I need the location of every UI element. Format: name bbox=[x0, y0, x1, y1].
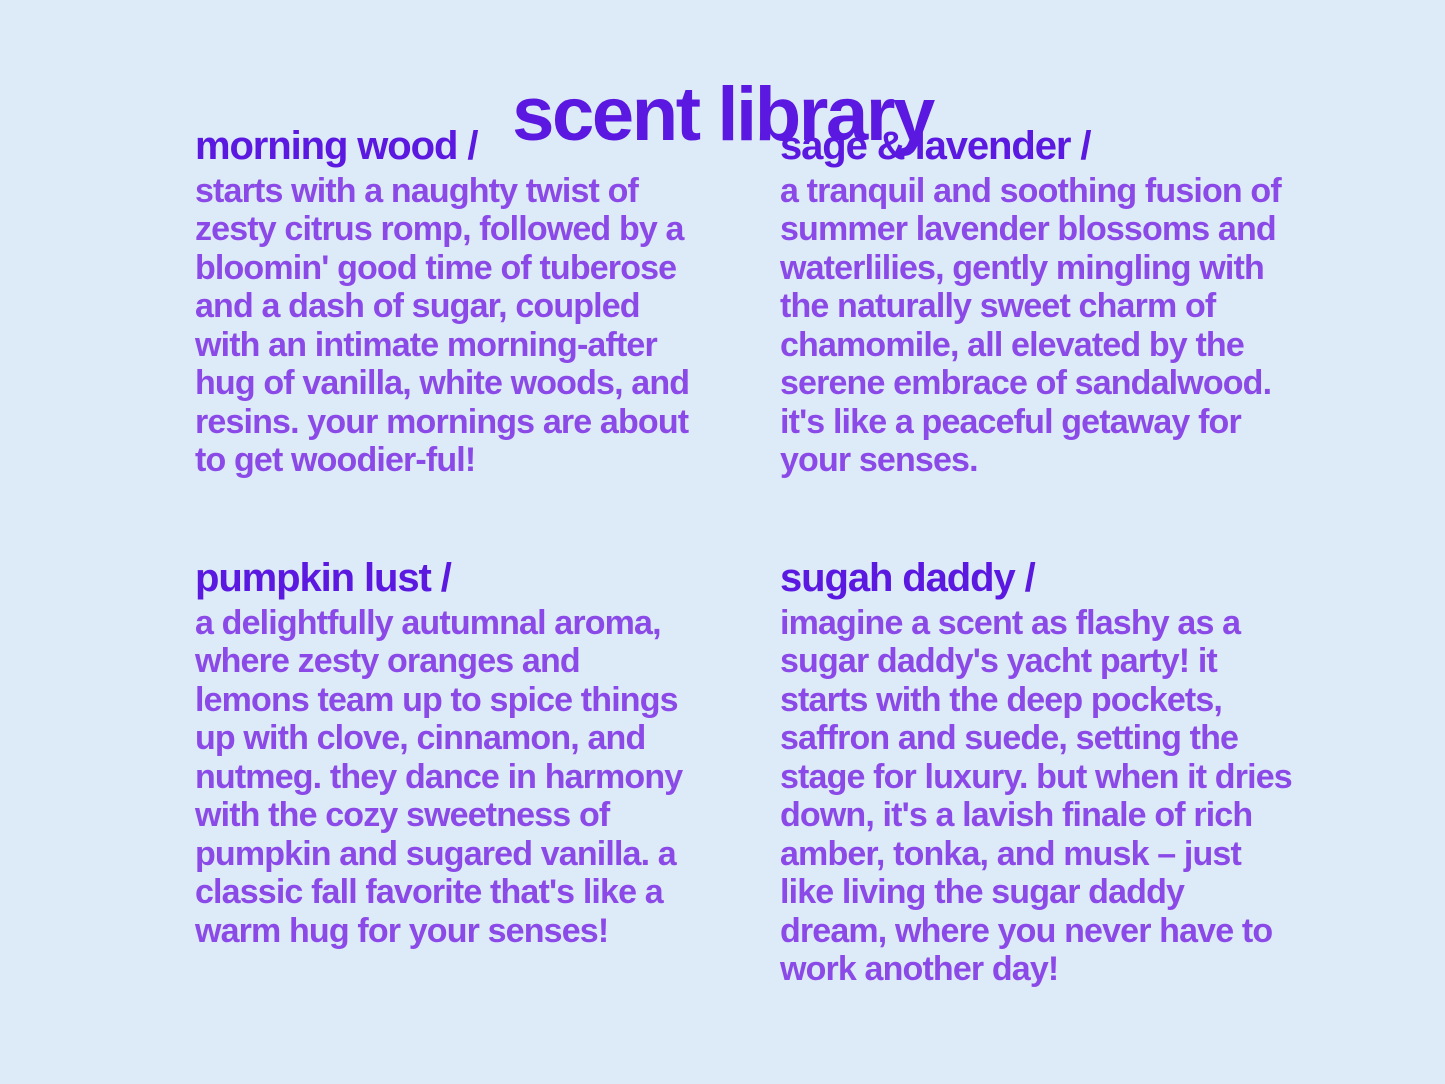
text-line: waterlilies, gently mingling with bbox=[780, 249, 1325, 288]
text-line: down, it's a lavish finale of rich bbox=[780, 796, 1325, 835]
scent-name-sugah-daddy: sugah daddy / bbox=[780, 556, 1325, 601]
text-line: bloomin' good time of tuberose bbox=[195, 249, 780, 288]
text-line: sugar daddy's yacht party! it bbox=[780, 642, 1325, 681]
text-line: and a dash of sugar, coupled bbox=[195, 287, 780, 326]
text-line: imagine a scent as flashy as a bbox=[780, 604, 1325, 643]
text-line: resins. your mornings are about bbox=[195, 403, 780, 442]
text-line: hug of vanilla, white woods, and bbox=[195, 364, 780, 403]
text-line: serene embrace of sandalwood. bbox=[780, 364, 1325, 403]
text-line: a delightfully autumnal aroma, bbox=[195, 604, 780, 643]
text-line: nutmeg. they dance in harmony bbox=[195, 758, 780, 797]
text-line: with an intimate morning-after bbox=[195, 326, 780, 365]
scent-description-morning-wood: starts with a naughty twist ofzesty citr… bbox=[195, 172, 780, 480]
text-line: where zesty oranges and bbox=[195, 642, 780, 681]
scent-grid: morning wood / starts with a naughty twi… bbox=[195, 124, 1325, 989]
scent-entry-sage-lavender: sage & lavender / a tranquil and soothin… bbox=[780, 124, 1325, 480]
text-line: warm hug for your senses! bbox=[195, 912, 780, 951]
text-line: starts with the deep pockets, bbox=[780, 681, 1325, 720]
text-line: the naturally sweet charm of bbox=[780, 287, 1325, 326]
text-line: with the cozy sweetness of bbox=[195, 796, 780, 835]
text-line: starts with a naughty twist of bbox=[195, 172, 780, 211]
text-line: like living the sugar daddy bbox=[780, 873, 1325, 912]
scent-name-pumpkin-lust: pumpkin lust / bbox=[195, 556, 780, 601]
scent-description-pumpkin-lust: a delightfully autumnal aroma,where zest… bbox=[195, 604, 780, 951]
text-line: zesty citrus romp, followed by a bbox=[195, 210, 780, 249]
text-line: a tranquil and soothing fusion of bbox=[780, 172, 1325, 211]
scent-entry-sugah-daddy: sugah daddy / imagine a scent as flashy … bbox=[780, 556, 1325, 989]
scent-entry-morning-wood: morning wood / starts with a naughty twi… bbox=[195, 124, 780, 480]
text-line: it's like a peaceful getaway for bbox=[780, 403, 1325, 442]
scent-library-page: scent library morning wood / starts with… bbox=[0, 0, 1445, 1084]
scent-name-sage-lavender: sage & lavender / bbox=[780, 124, 1325, 169]
text-line: summer lavender blossoms and bbox=[780, 210, 1325, 249]
scent-entry-pumpkin-lust: pumpkin lust / a delightfully autumnal a… bbox=[195, 556, 780, 989]
text-line: saffron and suede, setting the bbox=[780, 719, 1325, 758]
text-line: up with clove, cinnamon, and bbox=[195, 719, 780, 758]
scent-name-morning-wood: morning wood / bbox=[195, 124, 780, 169]
text-line: stage for luxury. but when it dries bbox=[780, 758, 1325, 797]
text-line: classic fall favorite that's like a bbox=[195, 873, 780, 912]
text-line: lemons team up to spice things bbox=[195, 681, 780, 720]
text-line: work another day! bbox=[780, 950, 1325, 989]
scent-description-sage-lavender: a tranquil and soothing fusion ofsummer … bbox=[780, 172, 1325, 480]
scent-description-sugah-daddy: imagine a scent as flashy as asugar dadd… bbox=[780, 604, 1325, 989]
text-line: to get woodier-ful! bbox=[195, 441, 780, 480]
text-line: chamomile, all elevated by the bbox=[780, 326, 1325, 365]
text-line: your senses. bbox=[780, 441, 1325, 480]
text-line: pumpkin and sugared vanilla. a bbox=[195, 835, 780, 874]
text-line: dream, where you never have to bbox=[780, 912, 1325, 951]
text-line: amber, tonka, and musk – just bbox=[780, 835, 1325, 874]
